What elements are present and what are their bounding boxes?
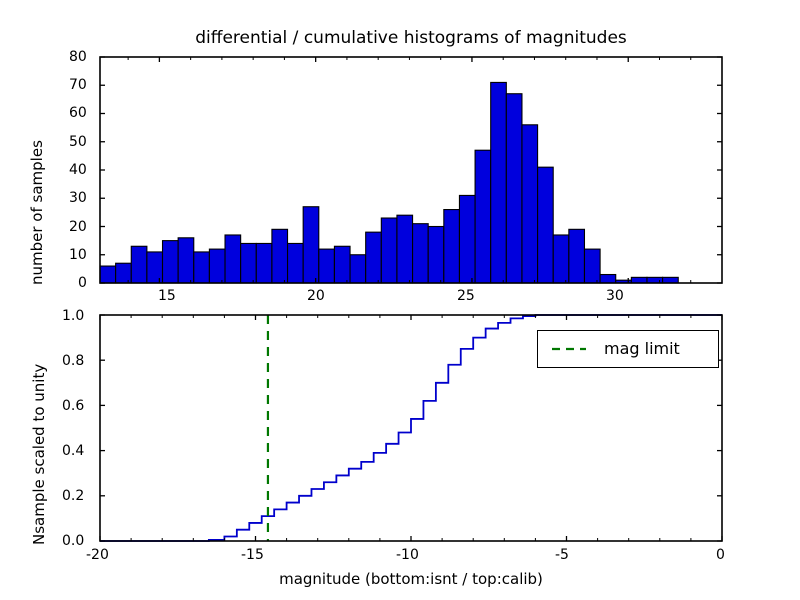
figure-title: differential / cumulative histograms of … <box>100 28 722 48</box>
histogram-bar <box>116 263 132 283</box>
histogram-bar <box>194 252 210 283</box>
top-ytick-10: 10 <box>69 247 87 263</box>
histogram-bar <box>397 215 413 283</box>
histogram-bar <box>350 255 366 283</box>
histogram-bar <box>288 243 304 283</box>
histogram-bar <box>413 224 429 283</box>
top-ytick-60: 60 <box>69 105 87 121</box>
top-xtick-15: 15 <box>158 288 176 304</box>
bottom-xtick-m20: -20 <box>86 547 109 563</box>
histogram-bar <box>272 229 288 283</box>
top-ytick-20: 20 <box>69 219 87 235</box>
histogram-bar <box>475 150 491 283</box>
histogram-bar <box>553 235 569 283</box>
histogram-bar <box>241 243 257 283</box>
histogram-bar <box>256 243 272 283</box>
bottom-panel-ylabel: Nsample scaled to unity <box>30 364 48 545</box>
top-ytick-80: 80 <box>69 49 87 65</box>
histogram-bar <box>600 275 616 283</box>
histogram-bar <box>209 249 225 283</box>
histogram-bar <box>163 241 179 283</box>
bottom-ytick-06: 0.6 <box>62 398 84 414</box>
top-xtick-30: 30 <box>606 288 624 304</box>
histogram-bar <box>616 280 632 283</box>
histogram-bar <box>506 94 522 283</box>
histogram-bar <box>663 277 679 283</box>
histogram-bar <box>444 210 460 283</box>
histogram-bar <box>459 195 475 283</box>
top-ytick-40: 40 <box>69 162 87 178</box>
histogram-bar <box>100 266 116 283</box>
bottom-ytick-00: 0.0 <box>62 533 84 549</box>
histogram-bars <box>100 82 678 283</box>
histogram-bar <box>381 218 397 283</box>
bottom-ytick-10: 1.0 <box>62 308 84 324</box>
histogram-bar <box>225 235 241 283</box>
top-ytick-70: 70 <box>69 77 87 93</box>
histogram-bar <box>131 246 147 283</box>
bottom-xtick-0: 0 <box>716 547 725 563</box>
histogram-bar <box>491 82 507 283</box>
top-xtick-25: 25 <box>457 288 475 304</box>
histogram-bar <box>428 227 444 284</box>
bottom-xtick-m10: -10 <box>396 547 419 563</box>
bottom-ytick-02: 0.2 <box>62 488 84 504</box>
bottom-ytick-04: 0.4 <box>62 443 84 459</box>
legend-label-mag-limit: mag limit <box>604 339 680 358</box>
histogram-bar <box>319 249 335 283</box>
histogram-bar <box>631 277 647 283</box>
histogram-bar <box>647 277 663 283</box>
top-ytick-30: 30 <box>69 190 87 206</box>
legend[interactable]: mag limit <box>537 330 719 368</box>
bottom-xtick-m15: -15 <box>241 547 264 563</box>
top-panel-ylabel: number of samples <box>28 140 46 285</box>
histogram-bar <box>366 232 382 283</box>
histogram-bar <box>178 238 194 283</box>
top-xtick-20: 20 <box>307 288 325 304</box>
bottom-xtick-m5: -5 <box>555 547 569 563</box>
histogram-bar <box>522 125 538 283</box>
bottom-ytick-08: 0.8 <box>62 353 84 369</box>
histogram-bar <box>584 249 600 283</box>
top-ytick-0: 0 <box>78 275 87 291</box>
histogram-bar <box>334 246 350 283</box>
histogram-bar <box>538 167 554 283</box>
top-ytick-50: 50 <box>69 134 87 150</box>
plot-vector-layer <box>0 0 800 600</box>
histogram-bar <box>569 229 585 283</box>
histogram-bar <box>303 207 319 283</box>
top-panel-axes <box>100 57 722 283</box>
figure-canvas: differential / cumulative histograms of … <box>0 0 800 600</box>
bottom-panel-xlabel: magnitude (bottom:isnt / top:calib) <box>100 570 722 588</box>
histogram-bar <box>147 252 163 283</box>
